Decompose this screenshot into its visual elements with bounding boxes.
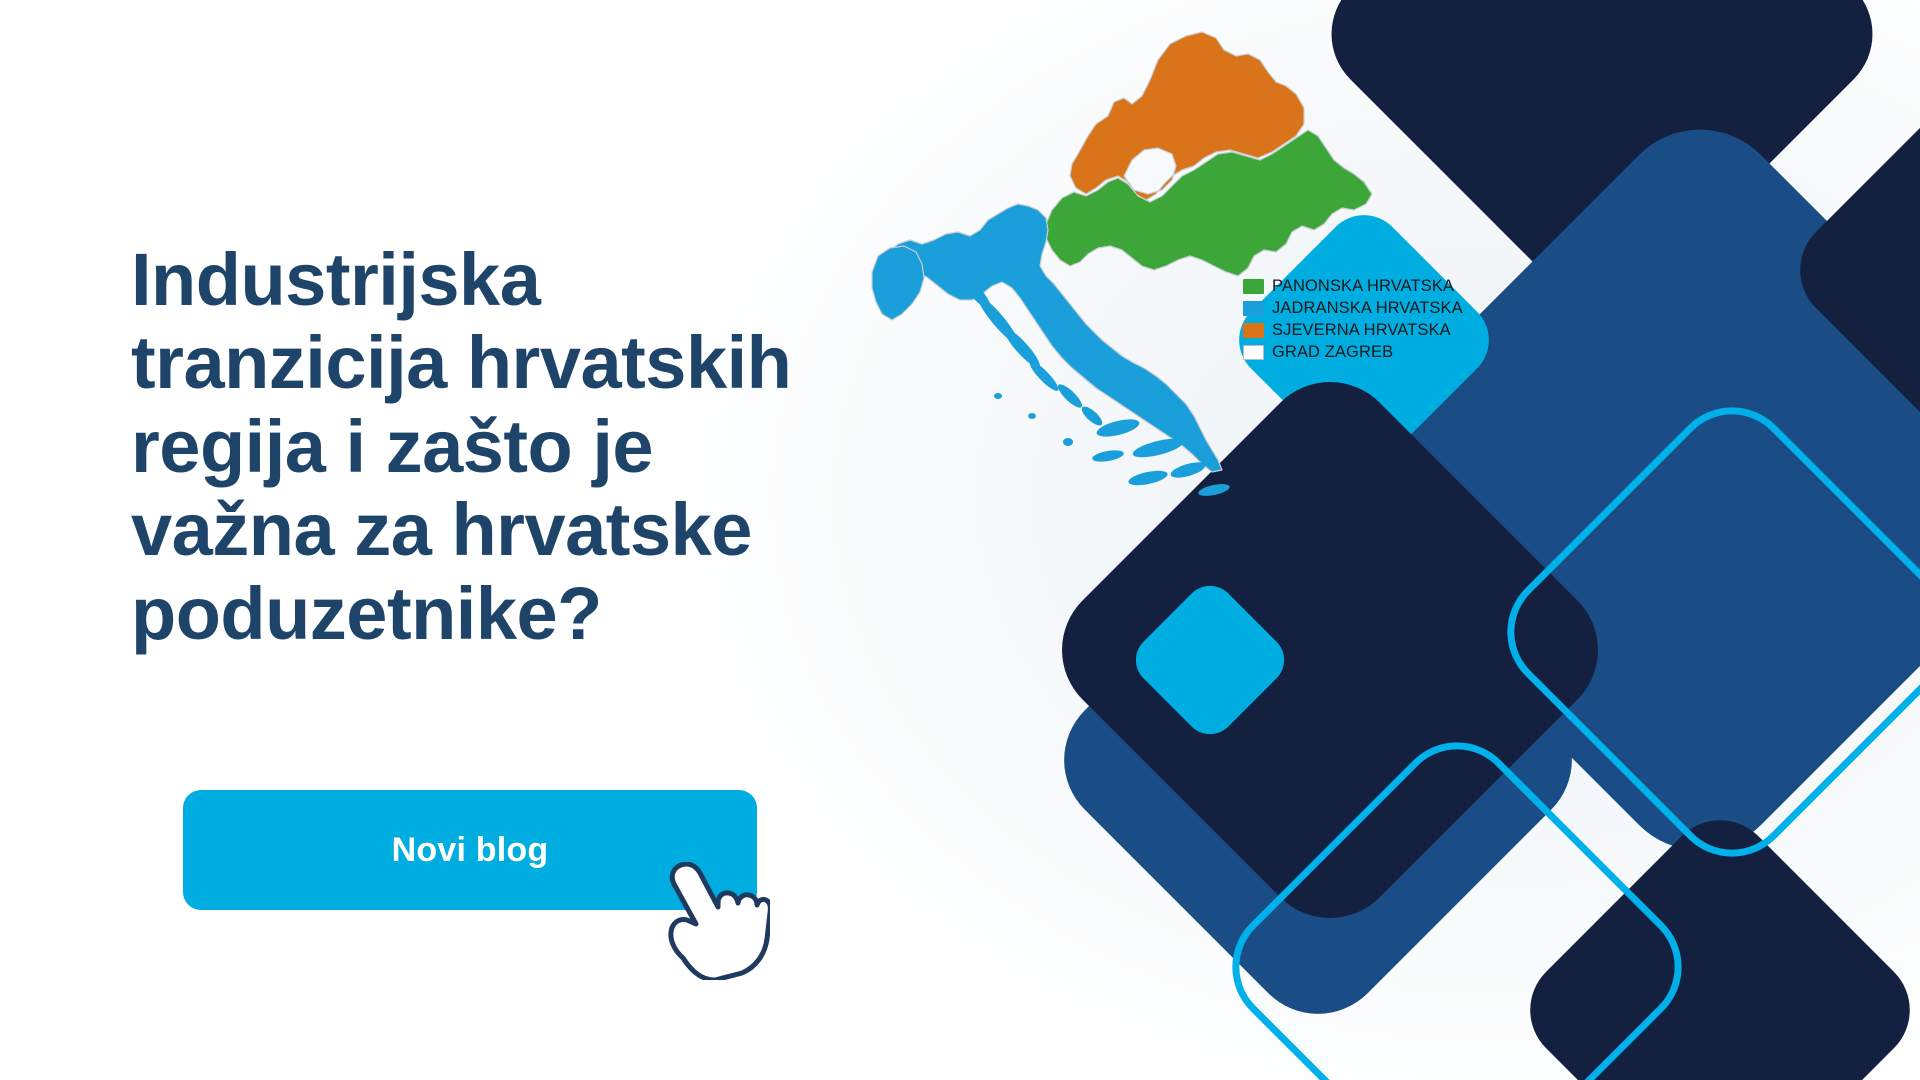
legend-item-label: JADRANSKA HRVATSKA xyxy=(1272,299,1463,318)
page-title: Industrijska tranzicija hrvatskih regija… xyxy=(131,238,1031,656)
blue-diamond-large xyxy=(1304,94,1920,886)
legend-color-swatch xyxy=(1243,279,1264,294)
legend-color-swatch xyxy=(1243,301,1264,316)
legend-color-swatch xyxy=(1243,323,1264,338)
legend-item: JADRANSKA HRVATSKA xyxy=(1243,299,1463,318)
legend-item-label: PANONSKA HRVATSKA xyxy=(1272,277,1454,296)
legend-item: SJEVERNA HRVATSKA xyxy=(1243,321,1463,340)
navy-diamond-bottom xyxy=(1508,798,1920,1080)
map-legend: PANONSKA HRVATSKAJADRANSKA HRVATSKASJEVE… xyxy=(1243,277,1463,362)
cyan-outline-diamond-2 xyxy=(1207,717,1708,1080)
legend-item: PANONSKA HRVATSKA xyxy=(1243,277,1463,296)
legend-item: GRAD ZAGREB xyxy=(1243,343,1463,362)
legend-color-swatch xyxy=(1243,345,1264,360)
cyan-outline-diamond-1 xyxy=(1482,382,1920,883)
legend-item-label: SJEVERNA HRVATSKA xyxy=(1272,321,1451,340)
navy-diamond-far-right xyxy=(1778,58,1920,482)
novi-blog-button[interactable]: Novi blog xyxy=(183,790,757,910)
legend-item-label: GRAD ZAGREB xyxy=(1272,343,1393,362)
hero-banner: PANONSKA HRVATSKAJADRANSKA HRVATSKASJEVE… xyxy=(0,0,1920,1080)
